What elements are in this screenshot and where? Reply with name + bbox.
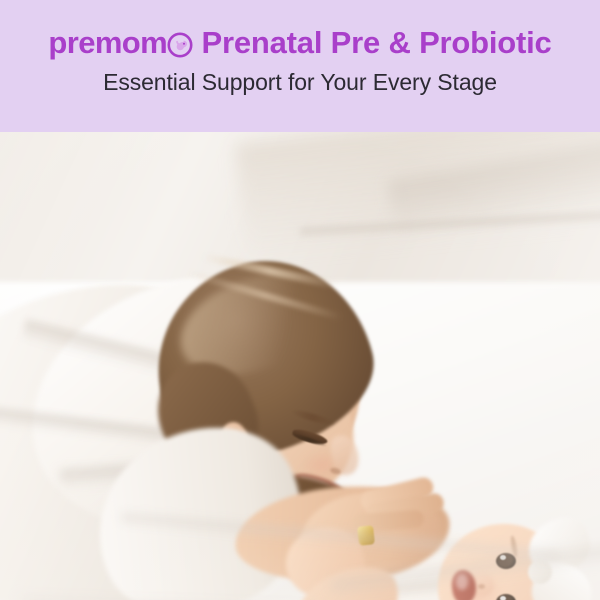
page-title: premom Prenatal Pre & Probiotic [0, 26, 600, 59]
brand-wordmark-prefix: premom [48, 25, 167, 60]
fetus-in-circle-icon [167, 32, 193, 58]
headline-product-name: Prenatal Pre & Probiotic [193, 25, 552, 60]
product-banner: premom Prenatal Pre & Probiotic Essentia… [0, 0, 600, 600]
banner-header: premom Prenatal Pre & Probiotic Essentia… [0, 0, 600, 132]
photo-vignette [0, 132, 600, 600]
page-subtitle: Essential Support for Your Every Stage [0, 69, 600, 95]
hero-photo [0, 132, 600, 600]
